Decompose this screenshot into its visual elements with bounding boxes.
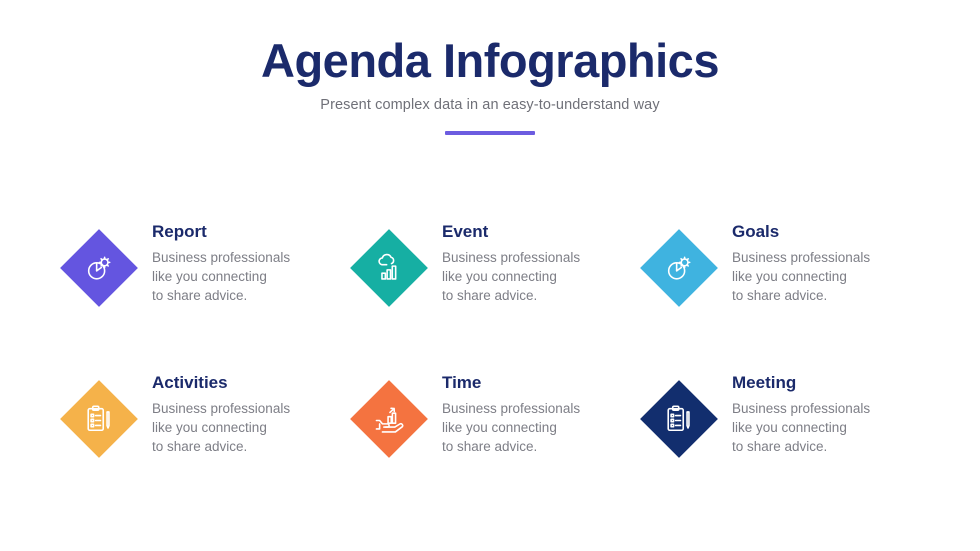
agenda-item-report[interactable]: Report Business professionals like you c… [60, 205, 350, 356]
agenda-item-title: Goals [732, 223, 922, 242]
agenda-item-title: Event [442, 223, 632, 242]
agenda-item-meeting[interactable]: Meeting Business professionals like you … [640, 356, 930, 507]
agenda-item-event[interactable]: Event Business professionals like you co… [350, 205, 640, 356]
agenda-item-description: Business professionals like you connecti… [152, 399, 342, 456]
slide-canvas: Agenda Infographics Present complex data… [0, 0, 980, 551]
diamond-badge-goals[interactable] [640, 229, 718, 307]
page-title: Agenda Infographics [0, 36, 980, 85]
agenda-item-description: Business professionals like you connecti… [442, 399, 632, 456]
agenda-item-text: Goals Business professionals like you co… [732, 205, 922, 305]
agenda-item-description: Business professionals like you connecti… [732, 399, 922, 456]
diamond-badge-meeting[interactable] [640, 380, 718, 458]
chart-gear-icon [664, 253, 694, 283]
diamond-badge-report[interactable] [60, 229, 138, 307]
clipboard-pen-icon [84, 404, 114, 434]
agenda-item-text: Event Business professionals like you co… [442, 205, 632, 305]
agenda-item-description: Business professionals like you connecti… [442, 248, 632, 305]
agenda-item-text: Meeting Business professionals like you … [732, 356, 922, 456]
agenda-item-time[interactable]: Time Business professionals like you con… [350, 356, 640, 507]
agenda-item-title: Report [152, 223, 342, 242]
clipboard-pen-icon [664, 404, 694, 434]
agenda-item-text: Report Business professionals like you c… [152, 205, 342, 305]
agenda-item-goals[interactable]: Goals Business professionals like you co… [640, 205, 930, 356]
agenda-item-title: Meeting [732, 374, 922, 393]
agenda-item-description: Business professionals like you connecti… [152, 248, 342, 305]
diamond-badge-event[interactable] [350, 229, 428, 307]
cloud-bar-chart-icon [374, 253, 404, 283]
agenda-item-title: Time [442, 374, 632, 393]
hand-growth-icon [374, 404, 404, 434]
agenda-item-description: Business professionals like you connecti… [732, 248, 922, 305]
chart-gear-icon [84, 253, 114, 283]
agenda-item-activities[interactable]: Activities Business professionals like y… [60, 356, 350, 507]
page-subtitle: Present complex data in an easy-to-under… [0, 97, 980, 113]
slide-header: Agenda Infographics Present complex data… [0, 36, 980, 135]
agenda-items-grid: Report Business professionals like you c… [60, 205, 930, 507]
agenda-item-title: Activities [152, 374, 342, 393]
agenda-item-text: Activities Business professionals like y… [152, 356, 342, 456]
diamond-badge-activities[interactable] [60, 380, 138, 458]
agenda-item-text: Time Business professionals like you con… [442, 356, 632, 456]
title-underline-accent [445, 131, 535, 135]
diamond-badge-time[interactable] [350, 380, 428, 458]
